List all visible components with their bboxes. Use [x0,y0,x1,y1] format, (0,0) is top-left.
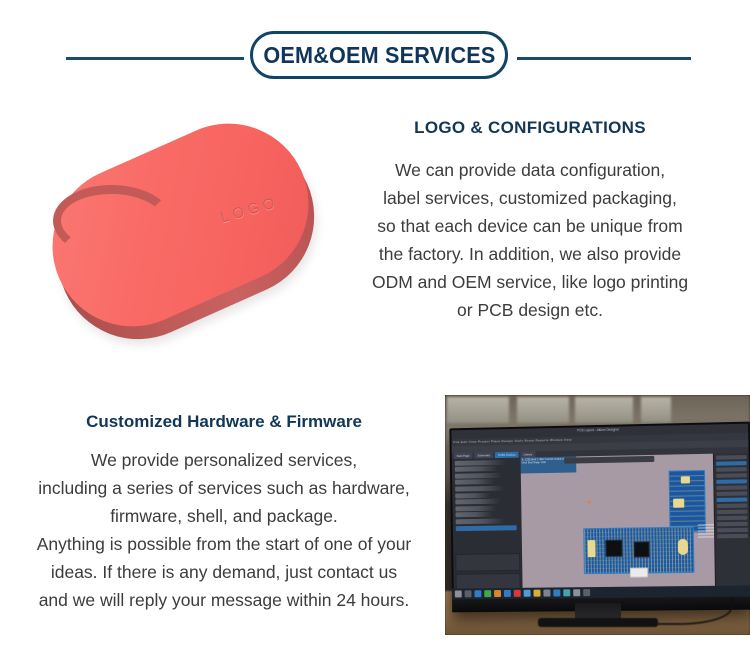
taskbar-icon[interactable] [543,590,550,597]
keychain-product-image: LOGO [38,123,338,358]
inspector-row[interactable] [717,534,748,538]
body-line: We can provide data configuration, [330,156,730,184]
body-line: We provide personalized services, [8,446,440,474]
monitor: PCB Layout - Altium Designer File Edit V… [449,422,750,613]
tree-item[interactable] [455,473,502,479]
tree-item-selected[interactable] [456,525,517,531]
taskbar-icon[interactable] [514,590,521,597]
taskbar-start-icon[interactable] [455,590,462,597]
pcb-pad [678,539,688,555]
inspector-row[interactable] [717,504,748,509]
pcb-pad [673,499,684,508]
tree-item[interactable] [455,492,490,498]
window-pane [641,397,671,423]
taskbar-icon[interactable] [494,590,501,597]
properties-inspector-panel[interactable] [713,453,750,588]
body-line: including a series of services such as h… [8,474,440,502]
pcb-canvas[interactable]: X: 1235.4mil Y: 842.7mil dX: 0.0mil dY: … [521,454,716,590]
canvas-floating-toolbar[interactable] [564,456,654,464]
tree-item[interactable] [455,499,500,505]
tree-item[interactable] [456,512,493,518]
tree-item[interactable] [456,518,505,524]
inspector-row[interactable] [716,467,747,472]
project-panel[interactable] [452,458,524,591]
monitor-stand-base [538,618,658,627]
section-body-logo-configurations: We can provide data configuration, label… [330,156,730,324]
inspector-row[interactable] [716,485,747,490]
customized-hardware-text-column: Customized Hardware & Firmware We provid… [8,413,440,614]
customized-hardware-section: Customized Hardware & Firmware We provid… [0,385,750,657]
body-line: ideas. If there is any demand, just cont… [8,558,440,586]
inspector-row[interactable] [717,491,748,496]
logo-configurations-text-column: LOGO & CONFIGURATIONS We can provide dat… [330,119,730,324]
body-line: the factory. In addition, we also provid… [330,240,730,268]
inspector-row[interactable] [717,528,748,532]
taskbar-icon[interactable] [563,589,570,596]
window-pane [575,397,633,423]
body-line: or PCB design etc. [330,296,730,324]
page-title: OEM&OEM SERVICES [263,44,495,67]
page-header: OEM&OEM SERVICES [0,0,750,105]
pcb-design-monitor-photo: PCB Layout - Altium Designer File Edit V… [445,395,750,635]
window-pane [447,397,509,423]
inspector-row[interactable] [716,455,747,460]
pcb-chip [633,541,649,557]
body-line: label services, customized packaging, [330,184,730,212]
app-title-text: PCB Layout - Altium Designer [577,428,619,433]
pcb-chip [605,540,622,557]
logo-configurations-section: LOGO LOGO & CONFIGURATIONS We can provid… [0,105,750,380]
body-line: Anything is possible from the start of o… [8,530,440,558]
section-body-customized-hardware: We provide personalized services, includ… [8,446,440,614]
keyring-hole [52,183,176,261]
tag-logo-emboss: LOGO [218,194,280,227]
taskbar-icon[interactable] [553,589,560,596]
inspector-row[interactable] [717,522,748,527]
section-heading-logo-configurations: LOGO & CONFIGURATIONS [330,119,730,136]
body-line: and we will reply your message within 24… [8,586,440,614]
inspector-row[interactable] [717,510,748,515]
taskbar-icon[interactable] [465,590,472,597]
body-line: ODM and OEM service, like logo printing [330,268,730,296]
body-line: firmware, shell, and package. [8,502,440,530]
taskbar-icon[interactable] [533,590,540,597]
divider-line-right [517,57,691,60]
properties-panel[interactable] [455,553,520,572]
taskbar-icon[interactable] [524,590,531,597]
pcb-pad [587,540,595,557]
taskbar-icon[interactable] [573,589,580,596]
keychain-tag: LOGO [27,98,334,352]
tree-item[interactable] [455,479,494,485]
window-pane [517,397,569,423]
divider-line-left [66,57,244,60]
title-pill-badge: OEM&OEM SERVICES [250,31,508,79]
inspector-row[interactable] [716,461,747,466]
inspector-row[interactable] [716,479,747,484]
taskbar-icon[interactable] [504,590,511,597]
inspector-row[interactable] [717,497,748,502]
tree-item[interactable] [455,486,504,492]
tree-item[interactable] [455,459,506,465]
taskbar-icon[interactable] [474,590,481,597]
taskbar-icon[interactable] [484,590,491,597]
inspector-row[interactable] [716,473,747,478]
tree-item[interactable] [455,505,496,511]
cursor-icon [587,500,592,505]
monitor-screen: PCB Layout - Altium Designer File Edit V… [451,424,750,600]
inspector-row[interactable] [717,516,748,521]
tree-item[interactable] [455,466,498,472]
taskbar-icon[interactable] [583,589,590,596]
pcb-usb-connector [630,567,648,577]
pcb-pad [681,476,690,483]
section-heading-customized-hardware: Customized Hardware & Firmware [8,413,440,430]
body-line: so that each device can be unique from [330,212,730,240]
